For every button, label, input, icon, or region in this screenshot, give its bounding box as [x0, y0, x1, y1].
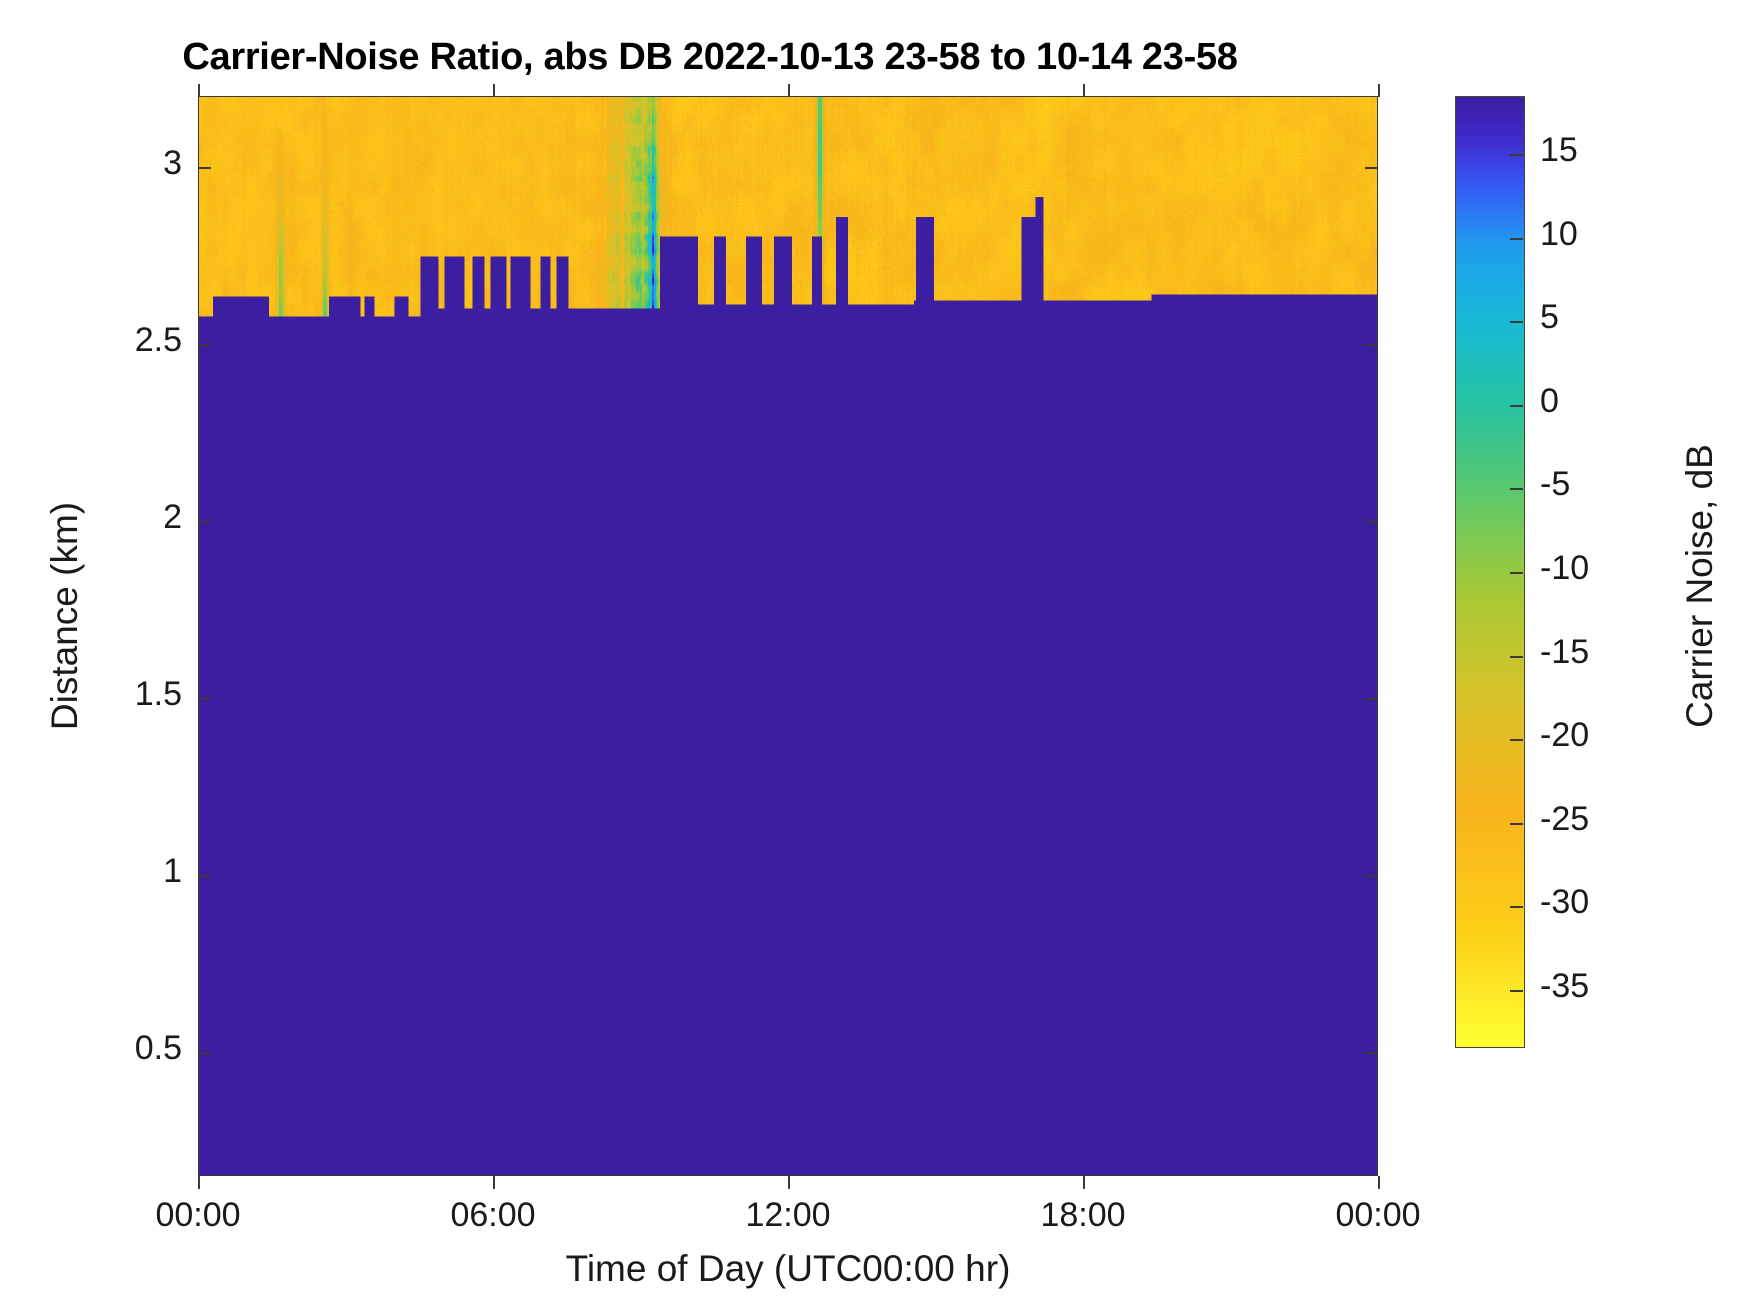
y-tick-label: 1.5 — [62, 675, 182, 714]
y-tick-mark — [198, 344, 211, 346]
colorbar-label: Carrier Noise, dB — [1679, 376, 1721, 796]
colorbar-tick-label: -30 — [1540, 883, 1589, 922]
colorbar-tick-mark — [1510, 990, 1523, 992]
y-tick-mark — [198, 698, 211, 700]
colorbar-tick-mark — [1510, 739, 1523, 741]
x-tick-mark — [788, 1176, 790, 1189]
x-tick-label: 12:00 — [688, 1196, 888, 1235]
colorbar-tick-label: -15 — [1540, 633, 1589, 672]
x-tick-mark — [1083, 1176, 1085, 1189]
y-tick-mark-right — [1365, 167, 1378, 169]
x-tick-label: 00:00 — [1278, 1196, 1478, 1235]
y-tick-label: 0.5 — [62, 1029, 182, 1068]
x-tick-label: 06:00 — [393, 1196, 593, 1235]
y-tick-label: 2 — [62, 498, 182, 537]
y-tick-mark-right — [1365, 698, 1378, 700]
y-tick-mark-right — [1365, 1052, 1378, 1054]
colorbar-tick-label: 10 — [1540, 215, 1578, 254]
plot-area[interactable] — [198, 96, 1378, 1176]
x-tick-mark — [493, 1176, 495, 1189]
colorbar-tick-mark — [1510, 154, 1523, 156]
x-tick-mark-top — [788, 84, 790, 97]
y-tick-mark-right — [1365, 875, 1378, 877]
colorbar-tick-mark — [1510, 488, 1523, 490]
colorbar-tick-label: -20 — [1540, 716, 1589, 755]
y-tick-mark — [198, 521, 211, 523]
y-tick-label: 1 — [62, 852, 182, 891]
y-axis-label: Distance (km) — [44, 376, 86, 856]
x-tick-label: 00:00 — [98, 1196, 298, 1235]
colorbar-tick-mark — [1510, 321, 1523, 323]
x-tick-label: 18:00 — [983, 1196, 1183, 1235]
colorbar-tick-label: -25 — [1540, 800, 1589, 839]
x-tick-mark — [1378, 1176, 1380, 1189]
figure-canvas: Carrier-Noise Ratio, abs DB 2022-10-13 2… — [0, 0, 1750, 1313]
y-tick-mark — [198, 1052, 211, 1054]
colorbar-tick-label: 0 — [1540, 382, 1559, 421]
colorbar-tick-label: 15 — [1540, 131, 1578, 170]
colorbar-tick-mark — [1510, 572, 1523, 574]
colorbar-tick-label: -5 — [1540, 465, 1570, 504]
x-tick-mark-top — [493, 84, 495, 97]
y-tick-mark — [198, 167, 211, 169]
x-tick-mark-top — [198, 84, 200, 97]
colorbar-tick-mark — [1510, 405, 1523, 407]
colorbar-tick-label: -10 — [1540, 549, 1589, 588]
y-tick-label: 3 — [62, 144, 182, 183]
chart-title: Carrier-Noise Ratio, abs DB 2022-10-13 2… — [0, 36, 1420, 79]
colorbar-tick-label: 5 — [1540, 298, 1559, 337]
x-tick-mark-top — [1378, 84, 1380, 97]
x-tick-mark-top — [1083, 84, 1085, 97]
heatmap-image — [199, 97, 1377, 1175]
colorbar-tick-label: -35 — [1540, 967, 1589, 1006]
x-axis-label: Time of Day (UTC00:00 hr) — [198, 1248, 1378, 1290]
x-tick-mark — [198, 1176, 200, 1189]
y-tick-mark — [198, 875, 211, 877]
colorbar-tick-mark — [1510, 238, 1523, 240]
y-tick-mark-right — [1365, 344, 1378, 346]
colorbar-tick-mark — [1510, 823, 1523, 825]
colorbar-tick-mark — [1510, 906, 1523, 908]
y-tick-label: 2.5 — [62, 321, 182, 360]
colorbar-tick-mark — [1510, 656, 1523, 658]
y-tick-mark-right — [1365, 521, 1378, 523]
